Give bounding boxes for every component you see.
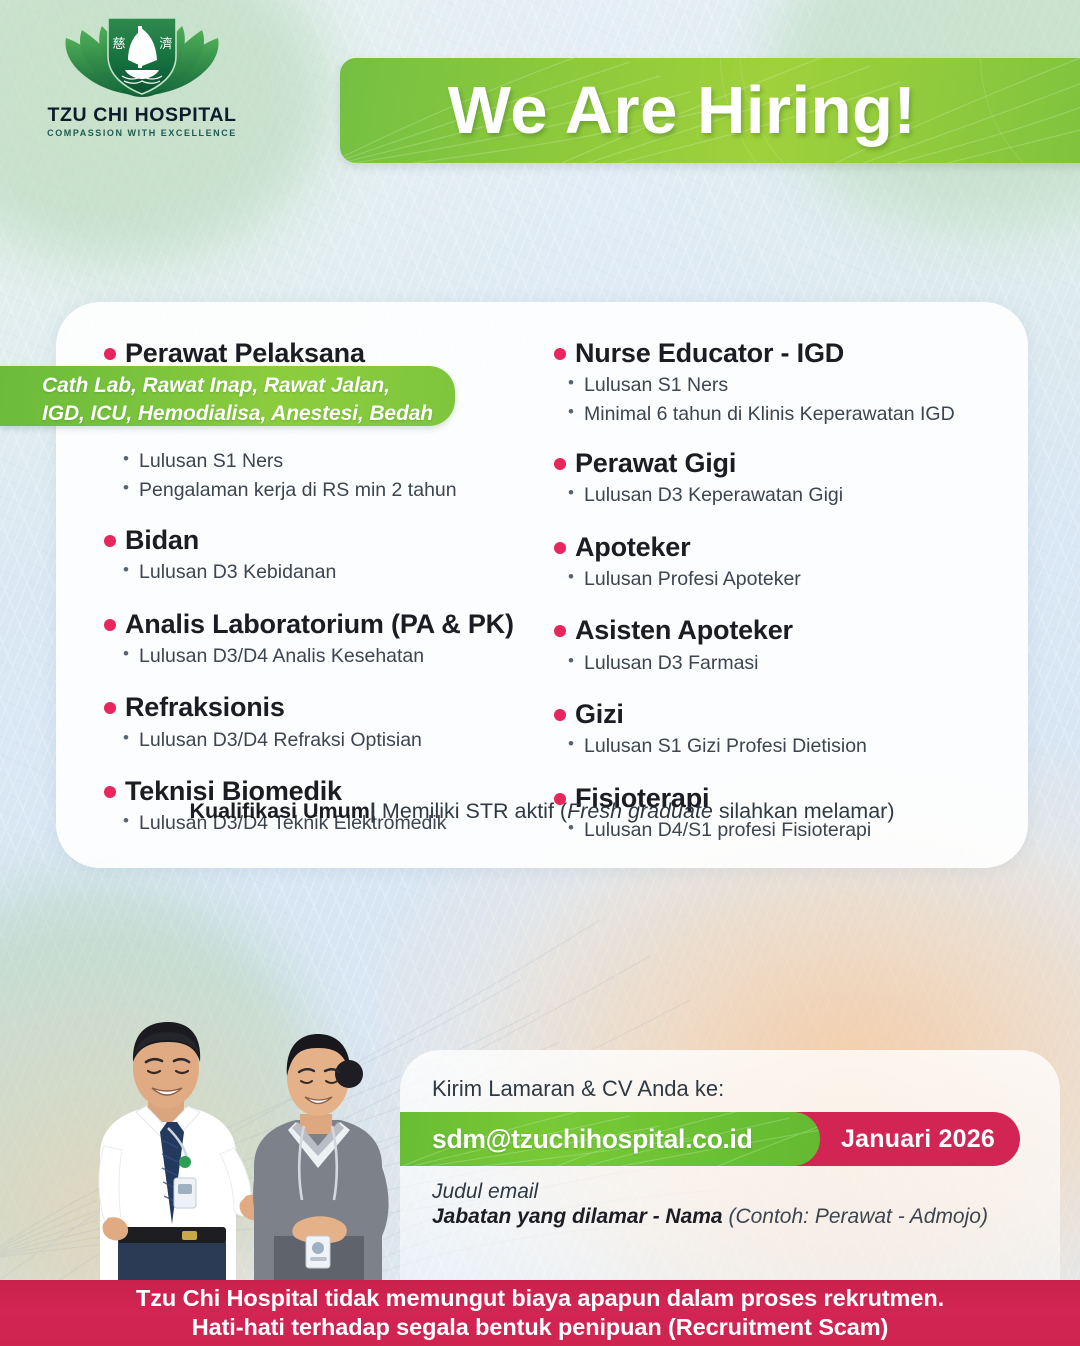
job-requirements: Lulusan D3/D4 Refraksi Optisian: [104, 726, 532, 755]
job-item: Asisten Apoteker Lulusan D3 Farmasi: [554, 613, 1018, 677]
job-requirements: Lulusan S1 Ners Pengalaman kerja di RS m…: [104, 447, 532, 505]
job-item: Apoteker Lulusan Profesi Apoteker: [554, 530, 1018, 594]
requirement-item: Lulusan D3/D4 Refraksi Optisian: [104, 726, 532, 755]
subject-example: (Contoh: Perawat - Admojo): [728, 1205, 988, 1228]
requirement-item: Lulusan S1 Gizi Profesi Dietision: [554, 732, 1018, 761]
requirement-item: Lulusan S1 Ners: [554, 371, 1018, 400]
bullet-dot-icon: [104, 786, 116, 798]
specialty-line-2: IGD, ICU, Hemodialisa, Anestesi, Bedah: [0, 400, 455, 428]
warning-line-1: Tzu Chi Hospital tidak memungut biaya ap…: [136, 1284, 944, 1313]
job-title: Apoteker: [575, 530, 690, 564]
logo-wordmark: TZU CHI HOSPITAL: [42, 105, 242, 125]
job-requirements: Lulusan D3 Keperawatan Gigi: [554, 481, 1018, 510]
warning-line-2: Hati-hati terhadap segala bentuk penipua…: [192, 1313, 889, 1342]
subject-label: Judul email: [432, 1180, 988, 1204]
job-item: Analis Laboratorium (PA & PK) Lulusan D3…: [104, 607, 532, 671]
bullet-dot-icon: [554, 348, 566, 360]
jobs-column-right: Nurse Educator - IGD Lulusan S1 Ners Min…: [542, 302, 1028, 802]
svg-text:慈: 慈: [112, 37, 125, 52]
svg-text:濟: 濟: [159, 36, 172, 52]
job-title: Perawat Pelaksana: [125, 336, 365, 370]
male-staff-figure: [99, 1022, 268, 1280]
qualification-label: Kualifikasi Umum: [189, 799, 369, 823]
bullet-dot-icon: [104, 619, 116, 631]
staff-photo: [22, 950, 452, 1280]
logo-tagline: COMPASSION WITH EXCELLENCE: [42, 128, 242, 138]
requirement-item: Lulusan D3 Keperawatan Gigi: [554, 481, 1018, 510]
bullet-dot-icon: [104, 702, 116, 714]
lotus-boat-emblem-icon: 慈 濟: [42, 8, 242, 104]
job-title: Gizi: [575, 697, 624, 731]
specialty-line-1: Cath Lab, Rawat Inap, Rawat Jalan,: [0, 366, 455, 400]
job-item: Gizi Lulusan S1 Gizi Profesi Dietision: [554, 697, 1018, 761]
banner-title: We Are Hiring!: [340, 58, 1080, 163]
bullet-dot-icon: [554, 542, 566, 554]
requirement-item: Pengalaman kerja di RS min 2 tahun: [104, 476, 532, 505]
job-requirements: Lulusan D3/D4 Analis Kesehatan: [104, 642, 532, 671]
job-requirements: Lulusan Profesi Apoteker: [554, 565, 1018, 594]
job-title: Asisten Apoteker: [575, 613, 793, 647]
job-item: Nurse Educator - IGD Lulusan S1 Ners Min…: [554, 336, 1018, 429]
job-title: Analis Laboratorium (PA & PK): [125, 607, 514, 641]
specialty-band: Cath Lab, Rawat Inap, Rawat Jalan, IGD, …: [0, 366, 455, 426]
hiring-banner: We Are Hiring!: [340, 58, 1080, 163]
requirement-item: Lulusan D3 Kebidanan: [104, 558, 532, 587]
job-item: Bidan Lulusan D3 Kebidanan: [104, 523, 532, 587]
email-subject-guide: Judul email Jabatan yang dilamar - Nama …: [432, 1180, 988, 1229]
date-label: Januari 2026: [795, 1125, 995, 1154]
subject-format: Jabatan yang dilamar - Nama: [432, 1205, 723, 1228]
qualification-italic: Fresh graduate: [567, 799, 713, 823]
scam-warning-banner: Tzu Chi Hospital tidak memungut biaya ap…: [0, 1280, 1080, 1346]
job-requirements: Lulusan S1 Ners Minimal 6 tahun di Klini…: [554, 371, 1018, 429]
qualification-separator: |: [370, 799, 376, 823]
job-item: Perawat Gigi Lulusan D3 Keperawatan Gigi: [554, 446, 1018, 510]
contact-pill-row: Januari 2026 sdm@tzuchihospital.co: [400, 1112, 1040, 1166]
bullet-dot-icon: [554, 709, 566, 721]
job-title: Nurse Educator - IGD: [575, 336, 844, 370]
job-title: Refraksionis: [125, 690, 285, 724]
recruitment-poster: 慈 濟 TZU CHI HOSPITAL COMPASSION WITH EXC…: [0, 0, 1080, 1346]
job-requirements: Lulusan D3 Farmasi: [554, 649, 1018, 678]
bullet-dot-icon: [104, 535, 116, 547]
qualification-text-after: silahkan melamar): [713, 799, 895, 823]
female-staff-figure: [253, 1034, 389, 1280]
qualification-text-before: Memiliki STR aktif (: [382, 799, 567, 823]
requirement-item: Minimal 6 tahun di Klinis Keperawatan IG…: [554, 400, 1018, 429]
job-requirements: Lulusan S1 Gizi Profesi Dietision: [554, 732, 1018, 761]
bullet-dot-icon: [554, 458, 566, 470]
bullet-dot-icon: [104, 348, 116, 360]
job-requirements: Lulusan D3 Kebidanan: [104, 558, 532, 587]
email-address: sdm@tzuchihospital.co.id: [400, 1124, 752, 1155]
requirement-item: Lulusan D3 Farmasi: [554, 649, 1018, 678]
job-title: Bidan: [125, 523, 199, 557]
job-item: Refraksionis Lulusan D3/D4 Refraksi Opti…: [104, 690, 532, 754]
bullet-dot-icon: [554, 625, 566, 637]
email-badge[interactable]: sdm@tzuchihospital.co.id: [400, 1112, 820, 1166]
requirement-item: Lulusan S1 Ners: [104, 447, 532, 476]
contact-panel: Kirim Lamaran & CV Anda ke: Januari 2026: [400, 1050, 1060, 1280]
hospital-logo: 慈 濟 TZU CHI HOSPITAL COMPASSION WITH EXC…: [42, 8, 242, 148]
requirement-item: Lulusan Profesi Apoteker: [554, 565, 1018, 594]
requirement-item: Lulusan D3/D4 Analis Kesehatan: [104, 642, 532, 671]
general-qualification: Kualifikasi Umum| Memiliki STR aktif (Fr…: [56, 799, 1028, 824]
job-title: Perawat Gigi: [575, 446, 736, 480]
contact-intro-text: Kirim Lamaran & CV Anda ke:: [432, 1076, 724, 1102]
